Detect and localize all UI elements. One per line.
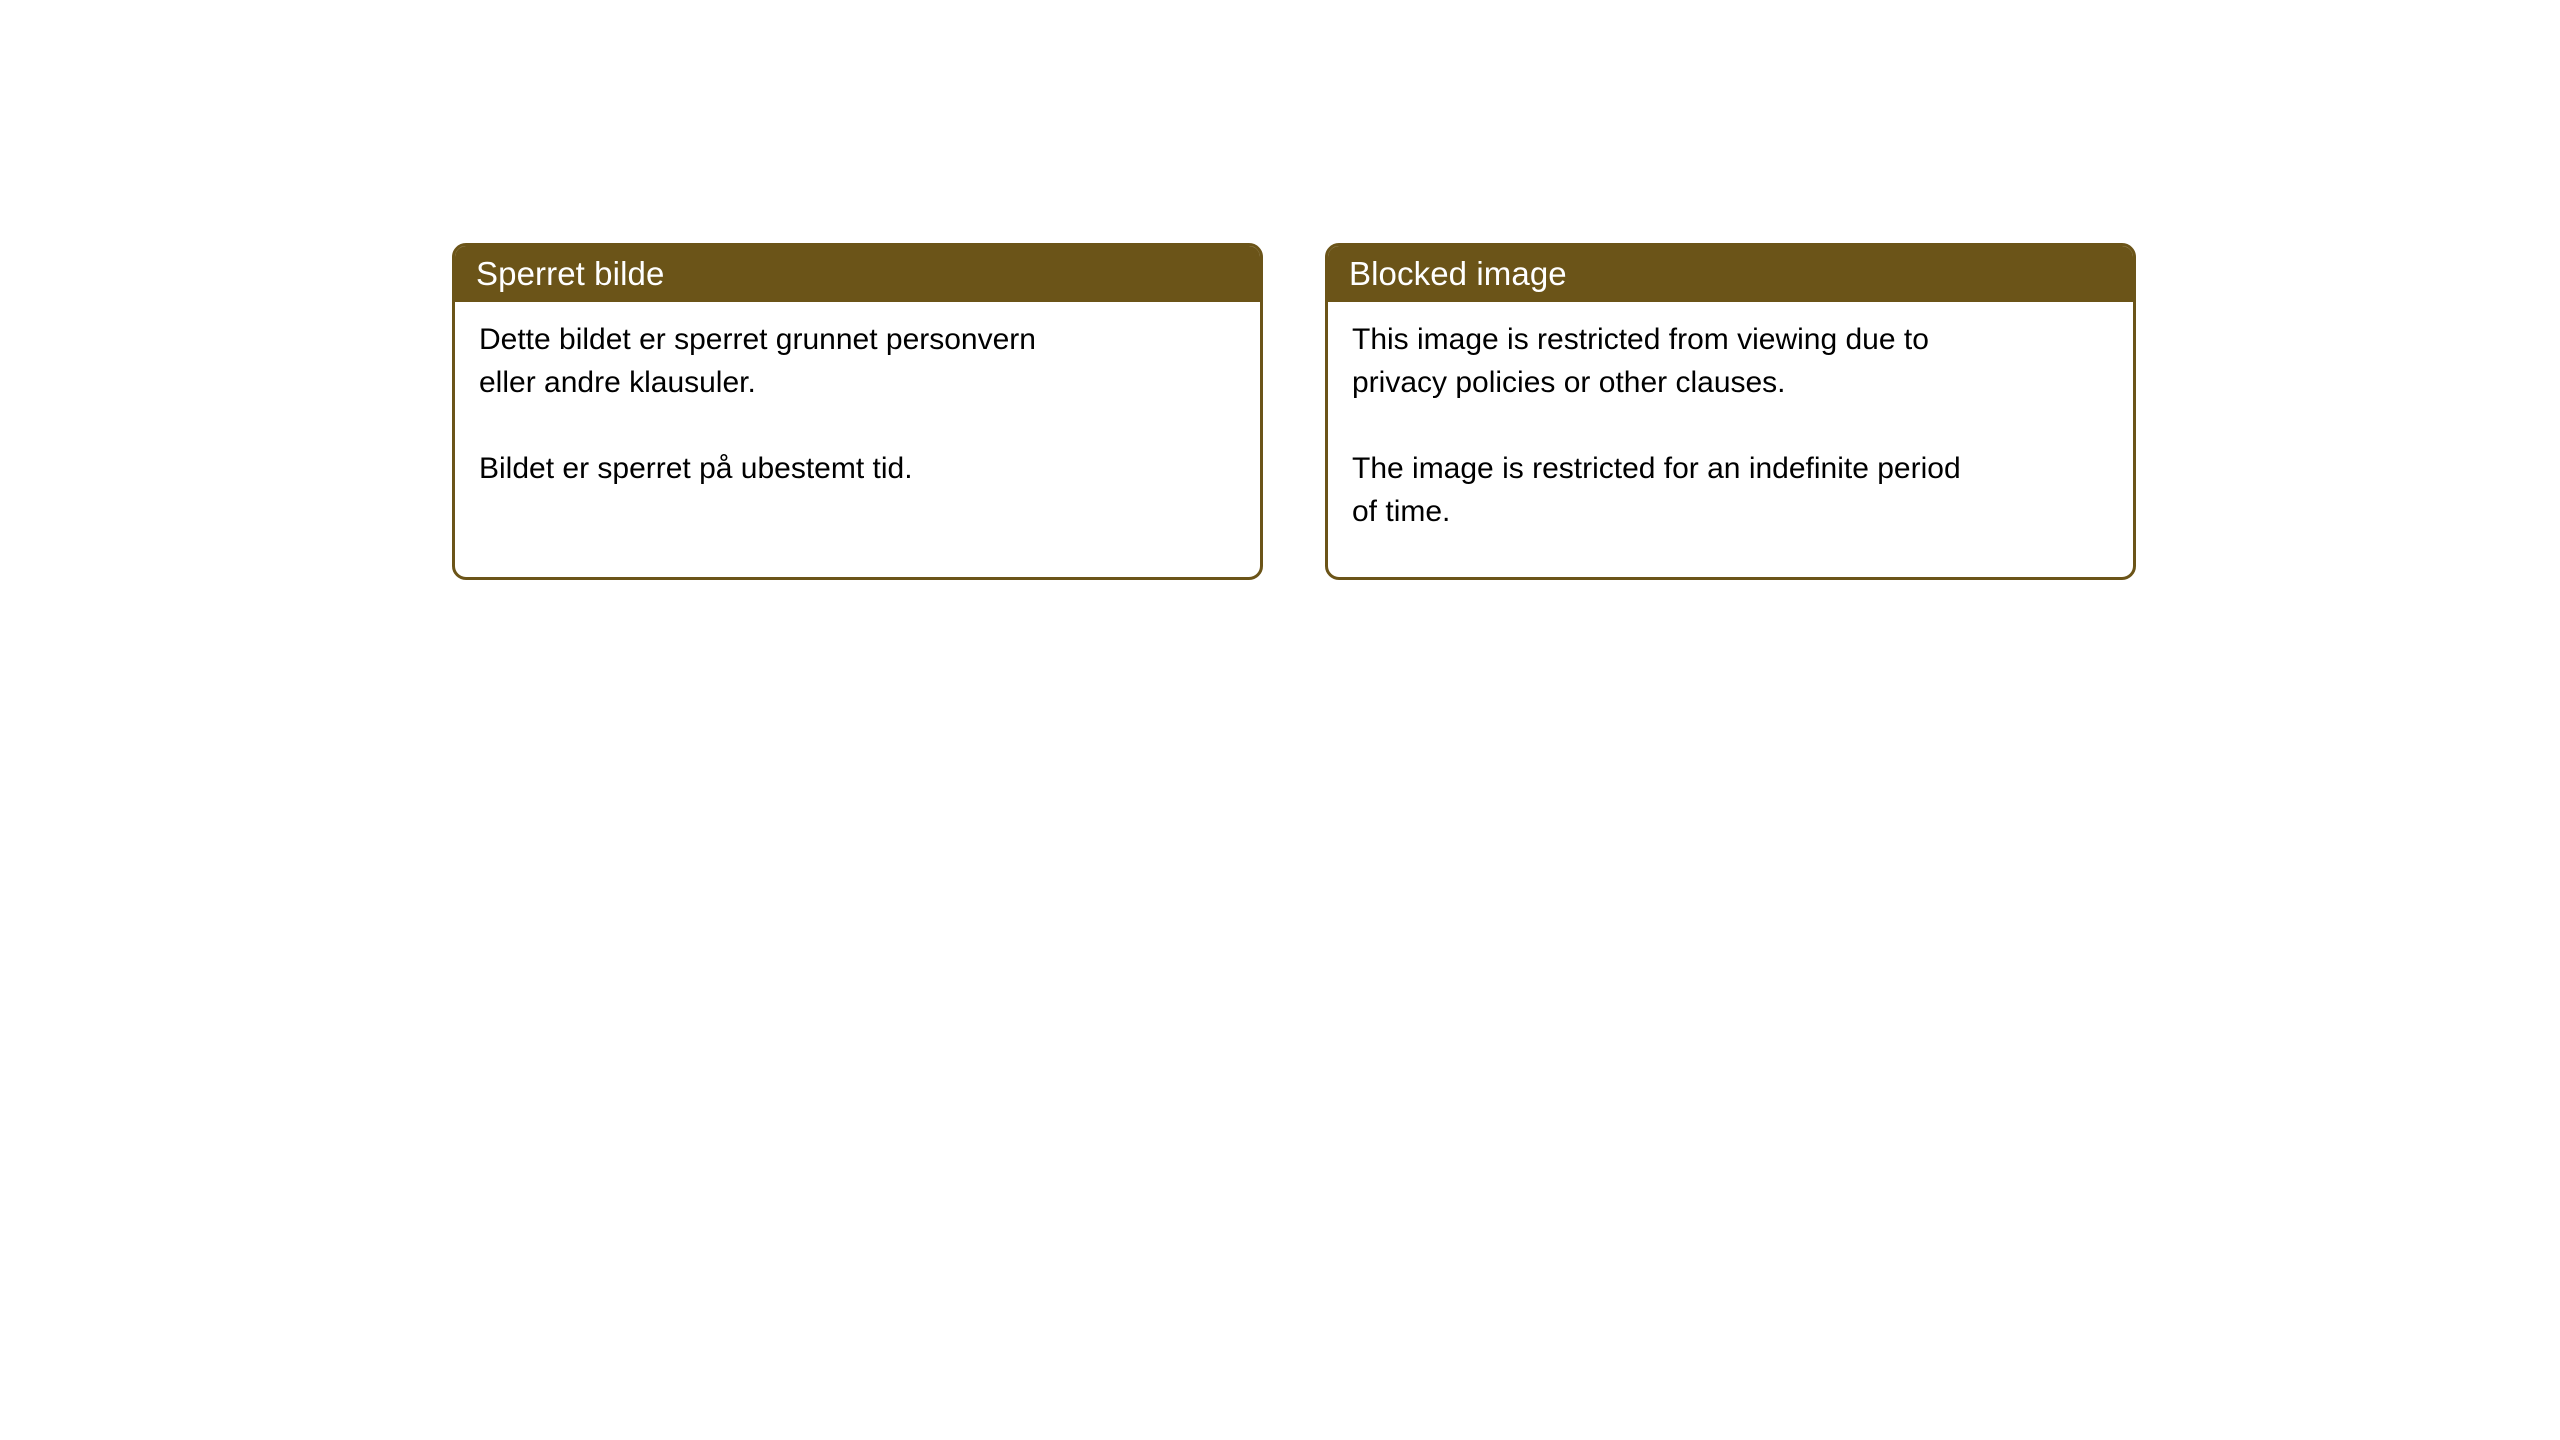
blocked-image-notice-english: Blocked image This image is restricted f… <box>1325 243 2136 580</box>
card-paragraph-duration-english: The image is restricted for an indefinit… <box>1352 447 2109 533</box>
card-body-norwegian: Dette bildet er sperret grunnet personve… <box>455 302 1260 490</box>
card-paragraph-reason-english: This image is restricted from viewing du… <box>1352 318 2109 404</box>
card-body-english: This image is restricted from viewing du… <box>1328 302 2133 533</box>
page-canvas: Sperret bilde Dette bildet er sperret gr… <box>0 0 2560 1440</box>
card-header-norwegian: Sperret bilde <box>454 245 1261 302</box>
blocked-image-notice-norwegian: Sperret bilde Dette bildet er sperret gr… <box>452 243 1263 580</box>
card-title-english: Blocked image <box>1349 257 1567 290</box>
card-paragraph-duration-norwegian: Bildet er sperret på ubestemt tid. <box>479 447 1236 490</box>
card-header-english: Blocked image <box>1327 245 2134 302</box>
card-paragraph-reason-norwegian: Dette bildet er sperret grunnet personve… <box>479 318 1236 404</box>
card-title-norwegian: Sperret bilde <box>476 257 664 290</box>
